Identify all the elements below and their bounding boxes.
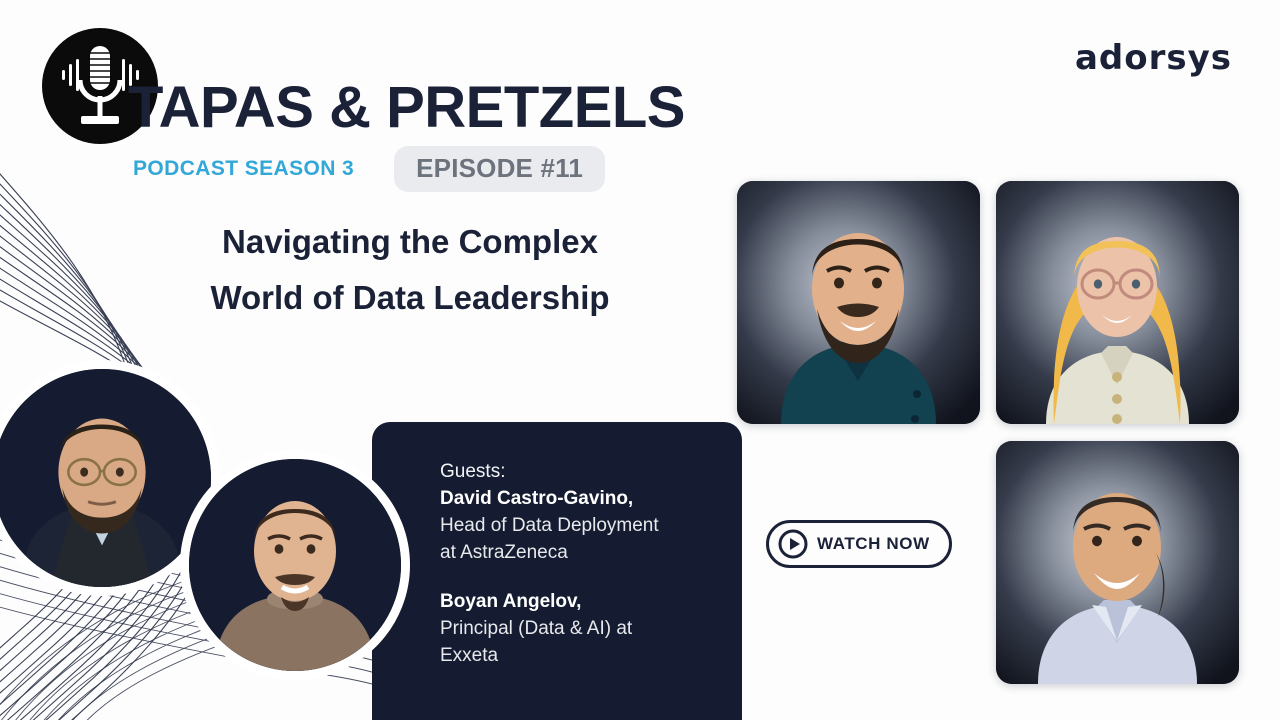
season-label: PODCAST SEASON 3 [133, 157, 354, 181]
episode-title-line-1: Navigating the Complex [222, 223, 598, 260]
watch-now-button[interactable]: WATCH NOW [766, 520, 952, 568]
guest-spacer [440, 566, 726, 588]
podcast-episode-banner: TAPAS & PRETZELS adorsys PODCAST SEASON … [0, 0, 1280, 720]
guests-label: Guests: [440, 458, 726, 485]
guest-1-role-line-1: Head of Data Deployment [440, 512, 726, 539]
podcast-title: TAPAS & PRETZELS [128, 74, 685, 141]
episode-badge: EPISODE #11 [394, 146, 605, 192]
play-circle-icon [778, 529, 808, 559]
host-portrait-3 [996, 441, 1239, 684]
guest-avatar-boyan [180, 450, 410, 680]
host-portrait-2 [996, 181, 1239, 424]
adorsys-logo: adorsys [1075, 38, 1232, 78]
guest-1-role-line-2: at AstraZeneca [440, 539, 726, 566]
guest-1-name: David Castro-Gavino, [440, 485, 726, 512]
guest-2-role-line-2: Exxeta [440, 642, 726, 669]
host-portrait-1 [737, 181, 980, 424]
guest-2-role-line-1: Principal (Data & AI) at [440, 615, 726, 642]
episode-meta-row: PODCAST SEASON 3 EPISODE #11 [133, 146, 605, 192]
episode-title-line-2: World of Data Leadership [0, 270, 820, 326]
guest-2-name: Boyan Angelov, [440, 588, 726, 615]
guests-card: Guests: David Castro-Gavino, Head of Dat… [372, 422, 742, 720]
watch-now-label: WATCH NOW [817, 534, 930, 554]
episode-title: Navigating the Complex World of Data Lea… [0, 214, 820, 326]
